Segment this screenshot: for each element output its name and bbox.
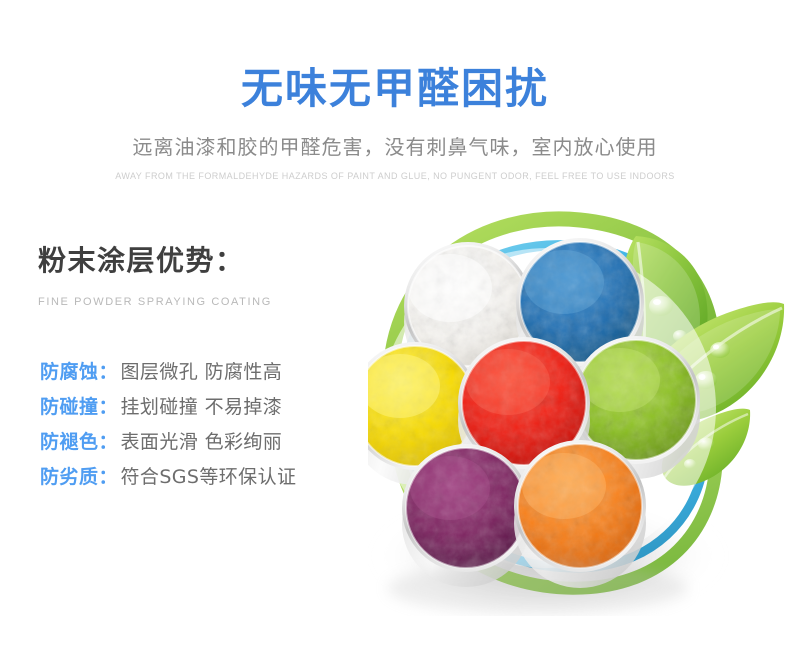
water-droplet <box>710 342 730 358</box>
feature-label: 防碰撞 <box>40 392 99 419</box>
feature-list: 防腐蚀 ： 图层微孔 防腐性高 防碰撞 ： 挂划碰撞 不易掉漆 防褪色 ： 表面… <box>40 357 296 497</box>
header-block: 无味无甲醛困扰 远离油漆和胶的甲醛危害，没有刺鼻气味，室内放心使用 AWAY F… <box>0 0 790 183</box>
section-title: 粉末涂层优势： <box>38 243 378 279</box>
feature-label: 防劣质 <box>40 462 99 489</box>
feature-item-anti-corrosion: 防腐蚀 ： 图层微孔 防腐性高 <box>40 357 296 392</box>
subtitle-english: AWAY FROM THE FORMALDEHYDE HAZARDS OF PA… <box>0 161 790 183</box>
feature-label: 防腐蚀 <box>40 357 99 384</box>
feature-item-quality-certified: 防劣质 ： 符合SGS等环保认证 <box>40 462 296 497</box>
product-photo-powder-jars <box>368 196 790 616</box>
info-panel: 粉末涂层优势： FINE POWDER SPRAYING COATING 防腐蚀… <box>38 243 378 310</box>
section-subtitle-english: FINE POWDER SPRAYING COATING <box>38 279 378 310</box>
feature-description: 图层微孔 防腐性高 <box>121 357 283 384</box>
feature-colon: ： <box>99 392 118 419</box>
page-title: 无味无甲醛困扰 <box>0 0 790 115</box>
feature-description: 挂划碰撞 不易掉漆 <box>121 392 283 419</box>
feature-colon: ： <box>99 357 118 384</box>
feature-label: 防褪色 <box>40 427 99 454</box>
feature-description: 符合SGS等环保认证 <box>121 462 297 489</box>
feature-colon: ： <box>99 462 118 489</box>
feature-description: 表面光滑 色彩绚丽 <box>121 427 283 454</box>
feature-item-anti-impact: 防碰撞 ： 挂划碰撞 不易掉漆 <box>40 392 296 427</box>
feature-colon: ： <box>99 427 118 454</box>
feature-item-anti-fade: 防褪色 ： 表面光滑 色彩绚丽 <box>40 427 296 462</box>
subtitle-chinese: 远离油漆和胶的甲醛危害，没有刺鼻气味，室内放心使用 <box>0 115 790 161</box>
